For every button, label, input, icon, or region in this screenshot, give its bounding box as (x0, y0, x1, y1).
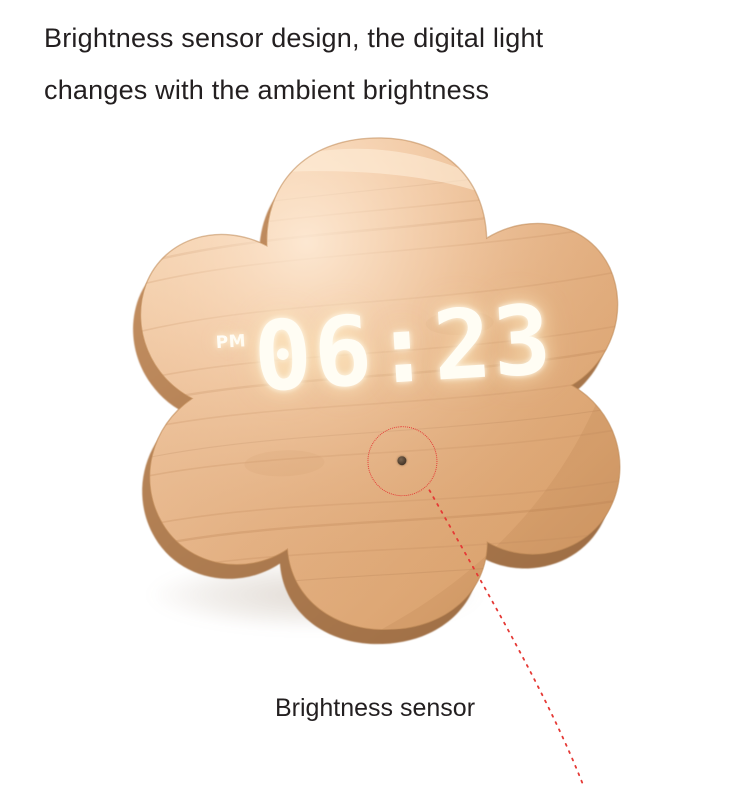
sensor-caption: Brightness sensor (0, 694, 750, 723)
headline-text: Brightness sensor design, the digital li… (44, 12, 724, 116)
product-photo-panel: Brightness sensor design, the digital li… (0, 0, 750, 750)
time-value: 06:23 (251, 292, 555, 406)
clover-body: PM 06:23 (109, 113, 648, 671)
led-time-display: PM 06:23 (213, 279, 560, 420)
meridiem-label: PM (215, 331, 247, 353)
product-image: PM 06:23 (118, 122, 638, 662)
